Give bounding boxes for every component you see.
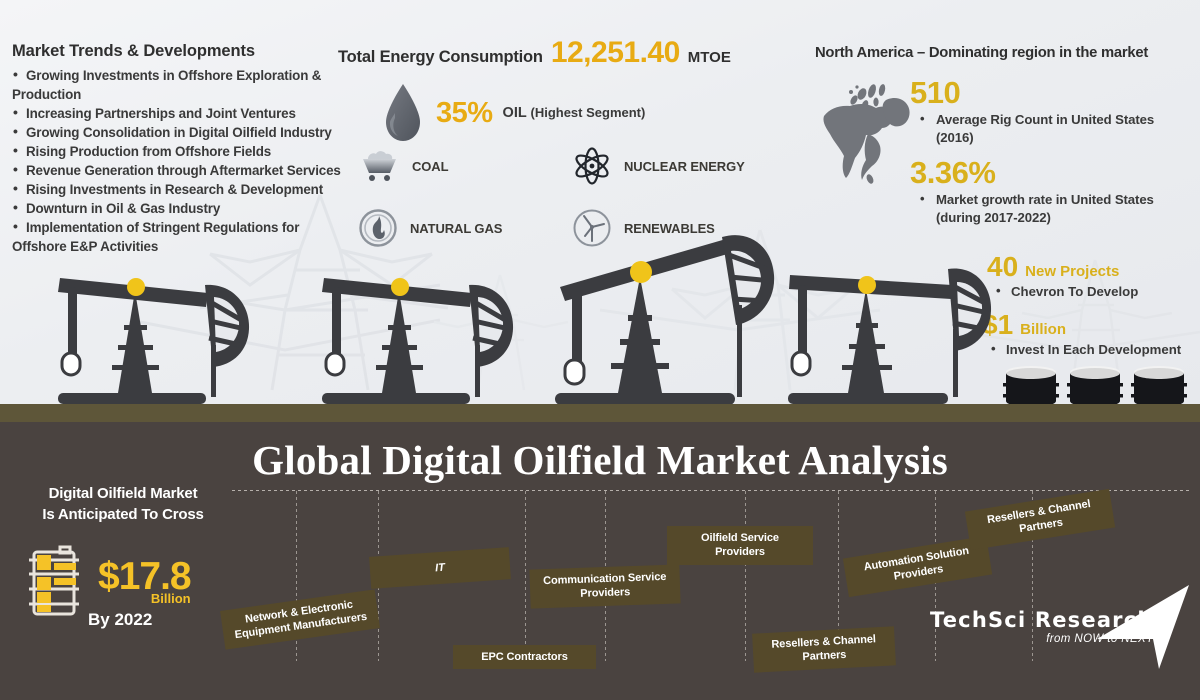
oil-barrel-icon	[1131, 366, 1187, 404]
na-stat-desc: Average Rig Count in United States (2016…	[910, 111, 1200, 147]
trend-item: Growing Investments in Offshore Explorat…	[12, 66, 342, 85]
na-stat-desc-line2: (during 2017-2022)	[936, 210, 1051, 225]
pumpjack	[555, 235, 774, 404]
segment-tag-resellers-channel-partners-upper[interactable]: Resellers & Channel Partners	[965, 489, 1115, 550]
north-america-map-icon	[820, 78, 916, 190]
pumpjack	[788, 268, 991, 404]
energy-headline: Total Energy Consumption 12,251.40 MTOE	[338, 36, 808, 70]
pumpjack	[322, 278, 513, 404]
segment-tag-line1: Resellers & Channel	[771, 633, 876, 650]
trend-item: Increasing Partnerships and Joint Ventur…	[12, 104, 342, 123]
oil-segment-row: 35% OIL (Highest Segment)	[380, 82, 645, 144]
oil-drop-icon	[380, 82, 426, 144]
energy-source-name: NUCLEAR ENERGY	[624, 159, 745, 174]
segment-tag-line1: EPC Contractors	[481, 651, 568, 663]
coal-cart-icon	[358, 149, 400, 183]
segment-tag-line2: Providers	[580, 586, 630, 600]
oil-barrel-icon	[1003, 366, 1059, 404]
oil-barrel-icon	[1067, 366, 1123, 404]
trend-item: Rising Investments in Research & Develop…	[12, 180, 342, 199]
market-value-amount-group: $17.8 Billion	[98, 558, 191, 606]
na-stat-desc-line2: (2016)	[936, 130, 974, 145]
na-stat-desc-line1: Market growth rate in United States	[936, 192, 1154, 207]
oil-label: OIL (Highest Segment)	[503, 105, 646, 121]
trend-item: Downturn in Oil & Gas Industry	[12, 199, 342, 218]
segment-tag-resellers-channel-partners-lower[interactable]: Resellers & Channel Partners	[752, 626, 896, 672]
segment-tag-line1: Communication Service	[543, 571, 667, 587]
market-value-caption-line1: Digital Oilfield Market	[18, 484, 228, 505]
top-light-panel: Market Trends & Developments Growing Inv…	[0, 0, 1200, 404]
north-america-block: North America – Dominating region in the…	[815, 45, 1197, 61]
north-america-heading: North America – Dominating region in the…	[815, 45, 1197, 61]
na-stat-value: 510	[910, 77, 1200, 108]
energy-source-coal: COAL	[358, 146, 558, 186]
pumpjack	[58, 278, 249, 404]
na-stat-desc: Market growth rate in United States (dur…	[910, 191, 1200, 227]
market-value-amount: $17.8	[98, 558, 191, 595]
oil-label-text: OIL	[503, 105, 527, 121]
market-value-year: By 2022	[88, 610, 152, 630]
oil-percent: 35%	[436, 97, 493, 130]
market-trends-heading: Market Trends & Developments	[12, 42, 342, 61]
na-stat-desc-line1: Average Rig Count in United States	[936, 112, 1154, 127]
divider-vertical-dotted	[745, 491, 746, 661]
segment-tag-communication-service-providers[interactable]: Communication Service Providers	[529, 564, 680, 608]
segment-tag-oilfield-service-providers[interactable]: Oilfield Service Providers	[667, 526, 813, 565]
divider-horizontal-dotted	[232, 490, 1190, 491]
energy-source-name: COAL	[412, 159, 448, 174]
market-value-caption: Digital Oilfield Market Is Anticipated T…	[18, 484, 228, 525]
energy-unit: MTOE	[688, 49, 731, 66]
trend-item: Growing Consolidation in Digital Oilfiel…	[12, 123, 342, 142]
energy-label: Total Energy Consumption	[338, 48, 543, 67]
segment-tag-line1: IT	[435, 562, 445, 575]
oil-label-note: (Highest Segment)	[530, 105, 645, 120]
brand-logo: TechSci Research from NOW to NEXT	[930, 608, 1154, 645]
segment-tag-line2: Partners	[802, 649, 846, 663]
oil-barrel-icon	[24, 544, 86, 620]
page-title: Global Digital Oilfield Market Analysis	[0, 436, 1200, 484]
trend-item: Revenue Generation through Aftermarket S…	[12, 161, 342, 180]
oil-barrels-group-icon	[1002, 363, 1188, 404]
infographic-root: Market Trends & Developments Growing Inv…	[0, 0, 1200, 700]
energy-consumption-block: Total Energy Consumption 12,251.40 MTOE …	[338, 36, 808, 70]
na-stat-growth-rate: 3.36% Market growth rate in United State…	[910, 157, 1200, 227]
ground-band	[0, 404, 1200, 422]
energy-source-nuclear: NUCLEAR ENERGY	[572, 146, 772, 186]
market-value-caption-line2: Is Anticipated To Cross	[18, 505, 228, 526]
brand-tagline: from NOW to NEXT	[930, 633, 1154, 645]
nuclear-atom-icon	[572, 146, 612, 186]
segment-tag-network-equipment[interactable]: Network & Electronic Equipment Manufactu…	[220, 589, 380, 649]
brand-name: TechSci Research	[930, 608, 1154, 632]
market-value-row: $17.8 Billion	[24, 544, 191, 620]
na-stat-rig-count: 510 Average Rig Count in United States (…	[910, 77, 1200, 147]
bottom-dark-panel: Global Digital Oilfield Market Analysis …	[0, 422, 1200, 700]
trend-item: Rising Production from Offshore Fields	[12, 142, 342, 161]
segment-tag-it[interactable]: IT	[369, 547, 511, 589]
na-stat-value: 3.36%	[910, 157, 1200, 188]
divider-vertical-dotted	[525, 491, 526, 661]
energy-value: 12,251.40	[551, 36, 680, 70]
segment-tag-line1: Oilfield Service Providers	[701, 532, 779, 558]
trend-item-continuation: Production	[12, 85, 342, 104]
segment-tag-epc-contractors[interactable]: EPC Contractors	[453, 645, 596, 669]
